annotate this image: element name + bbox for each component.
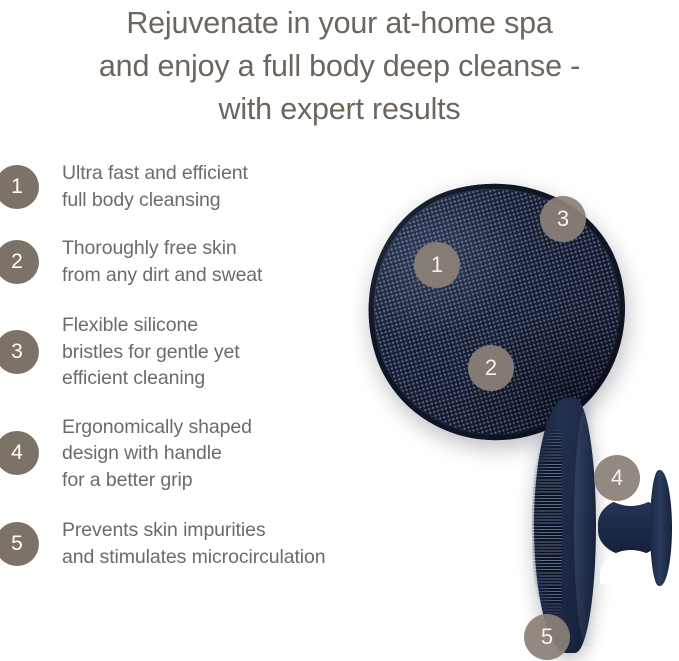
feature-text-2: Thoroughly free skin from any dirt and s… [62, 235, 262, 288]
page-title: Rejuvenate in your at-home spa and enjoy… [0, 0, 679, 131]
feature-text-4: Ergonomically shaped design with handle … [62, 414, 252, 494]
feature-badge-1: 1 [0, 165, 39, 209]
feature-badge-4: 4 [0, 431, 39, 475]
headline-line-1: Rejuvenate in your at-home spa [0, 2, 679, 45]
feature-2-line-1: Thoroughly free skin [62, 235, 262, 262]
feature-badge-5: 5 [0, 522, 39, 566]
feature-5-line-1: Prevents skin impurities [62, 517, 326, 544]
feature-badge-2: 2 [0, 240, 39, 284]
feature-1-line-2: full body cleansing [62, 187, 248, 214]
feature-badge-3: 3 [0, 330, 39, 374]
headline-line-3: with expert results [0, 88, 679, 131]
feature-text-1: Ultra fast and efficient full body clean… [62, 160, 248, 213]
headline-line-2: and enjoy a full body deep cleanse - [0, 45, 679, 88]
feature-item-5: 5 Prevents skin impurities and stimulate… [0, 517, 470, 570]
feature-4-line-1: Ergonomically shaped [62, 414, 252, 441]
handle-end-cap [650, 470, 672, 586]
product-marker-4: 4 [594, 455, 640, 501]
side-view-bristle-edge [532, 408, 562, 644]
product-marker-2: 2 [468, 345, 514, 391]
feature-5-line-2: and stimulates microcirculation [62, 544, 326, 571]
feature-2-line-2: from any dirt and sweat [62, 262, 262, 289]
product-marker-5: 5 [524, 614, 570, 660]
feature-1-line-1: Ultra fast and efficient [62, 160, 248, 187]
feature-3-line-1: Flexible silicone [62, 312, 240, 339]
feature-4-line-3: for a better grip [62, 467, 252, 494]
feature-4-line-2: design with handle [62, 440, 252, 467]
feature-3-line-3: efficient cleaning [62, 365, 240, 392]
product-marker-1: 1 [414, 242, 460, 288]
feature-text-5: Prevents skin impurities and stimulates … [62, 517, 326, 570]
product-marker-3: 3 [540, 196, 586, 242]
feature-3-line-2: bristles for gentle yet [62, 339, 240, 366]
feature-text-3: Flexible silicone bristles for gentle ye… [62, 312, 240, 392]
